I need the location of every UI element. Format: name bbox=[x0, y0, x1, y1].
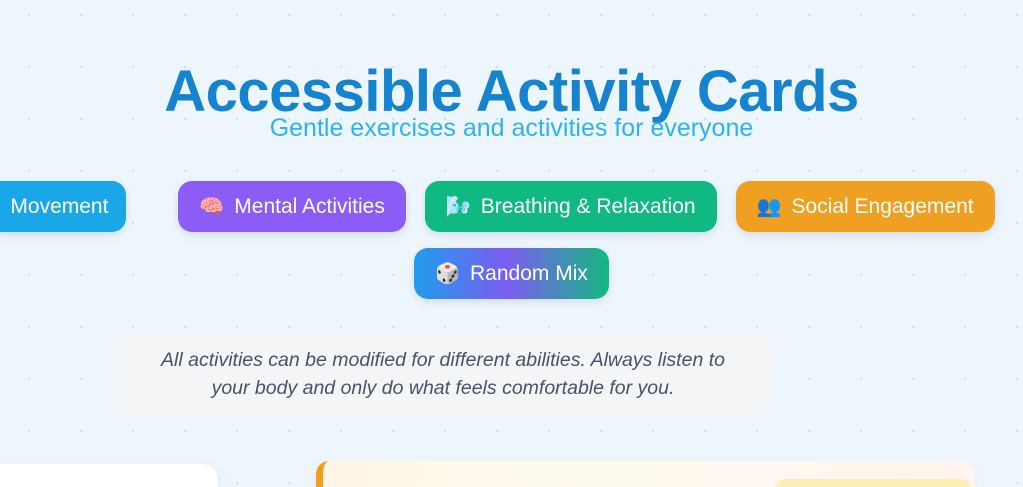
game-die-icon: 🎲 bbox=[435, 264, 460, 284]
category-button-breathing-relaxation[interactable]: 🌬️ Breathing & Relaxation bbox=[425, 181, 717, 232]
page-subtitle: Gentle exercises and activities for ever… bbox=[0, 114, 1023, 143]
movement-button-slot: Movement bbox=[28, 181, 159, 232]
activity-card-preview[interactable] bbox=[0, 464, 218, 487]
accessibility-note: All activities can be modified for diffe… bbox=[112, 333, 774, 415]
wind-face-icon: 🌬️ bbox=[446, 197, 471, 217]
category-button-social-engagement-label: Social Engagement bbox=[791, 195, 973, 219]
category-button-mental-activities[interactable]: 🧠 Mental Activities bbox=[178, 181, 405, 232]
category-button-random-mix[interactable]: 🎲 Random Mix bbox=[414, 248, 609, 299]
category-button-mental-activities-label: Mental Activities bbox=[234, 195, 385, 219]
category-filter-row-primary: Movement 🧠 Mental Activities 🌬️ Breathin… bbox=[0, 181, 1023, 232]
brain-icon: 🧠 bbox=[199, 197, 224, 217]
tip-card-preview[interactable] bbox=[316, 461, 975, 487]
category-button-movement-label: Movement bbox=[10, 195, 108, 219]
tip-card-badge bbox=[775, 479, 971, 487]
page-background: Accessible Activity Cards Gentle exercis… bbox=[0, 0, 1023, 487]
busts-in-silhouette-icon: 👥 bbox=[757, 197, 782, 217]
category-button-random-mix-label: Random Mix bbox=[470, 262, 588, 286]
category-button-movement[interactable]: Movement bbox=[0, 181, 126, 232]
category-button-social-engagement[interactable]: 👥 Social Engagement bbox=[736, 181, 995, 232]
accessibility-note-text: All activities can be modified for diffe… bbox=[152, 346, 734, 403]
category-filter-row-secondary: 🎲 Random Mix bbox=[0, 248, 1023, 299]
page-content: Accessible Activity Cards Gentle exercis… bbox=[0, 0, 1023, 487]
category-button-breathing-relaxation-label: Breathing & Relaxation bbox=[481, 195, 696, 219]
